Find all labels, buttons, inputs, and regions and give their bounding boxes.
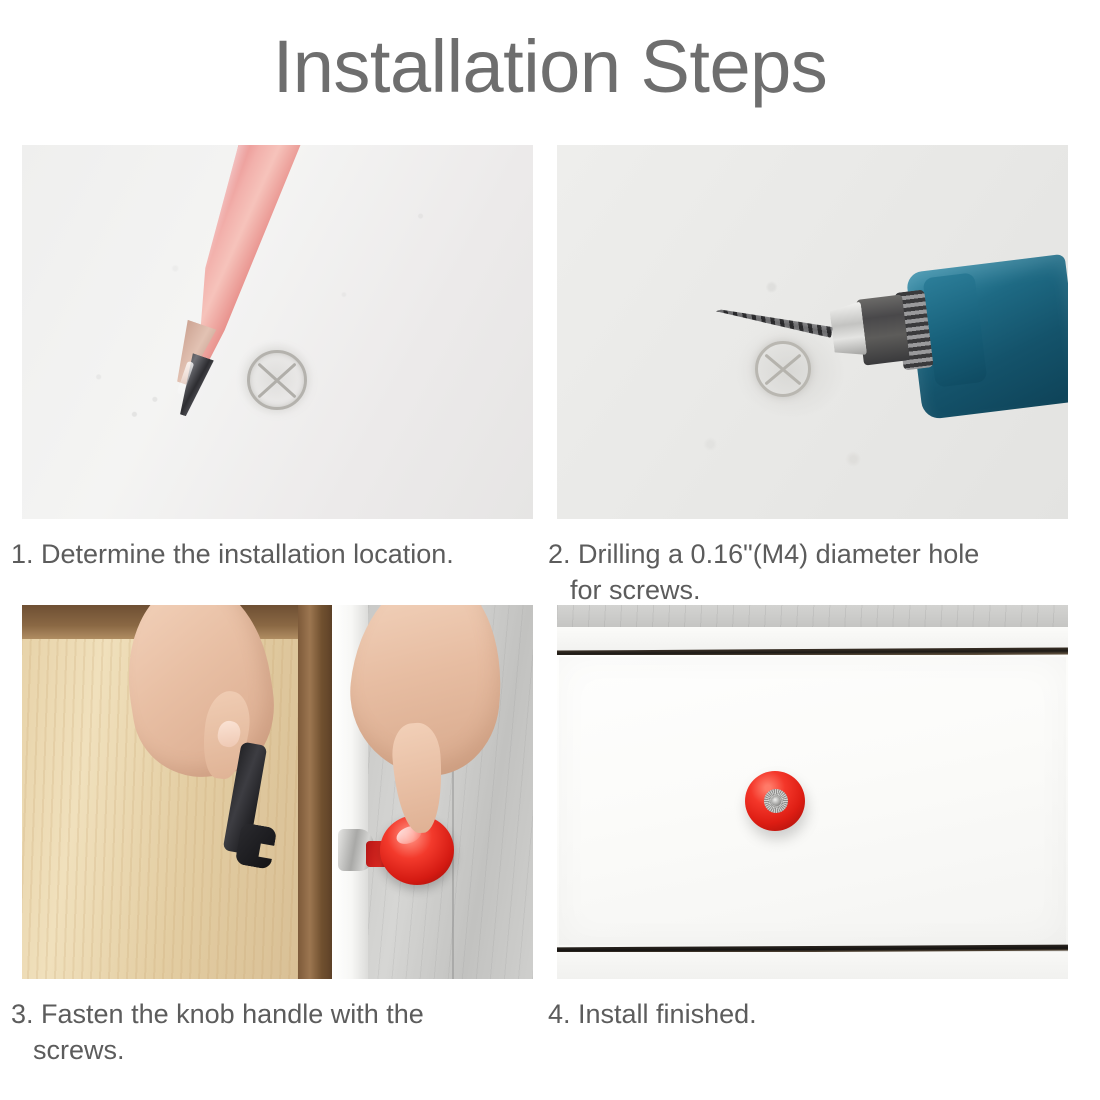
step-1-photo-pencil-marking xyxy=(22,145,533,519)
step-2-caption: 2. Drilling a 0.16"(M4) diameter hole fo… xyxy=(557,537,1068,609)
step-2-photo-drilling xyxy=(557,145,1068,519)
step-card-4: 4. Install finished. xyxy=(557,605,1068,1033)
circled-x-mark-icon xyxy=(247,350,307,410)
background-floor-strip xyxy=(557,605,1068,627)
step-card-3: 3. Fasten the knob handle with the screw… xyxy=(22,605,533,1069)
drill-chuck-barrel xyxy=(856,294,910,365)
cabinet-bottom-rail xyxy=(557,952,1068,979)
page-title: Installation Steps xyxy=(0,28,1100,106)
step-4-caption: 4. Install finished. xyxy=(557,997,1068,1033)
step-1-caption: 1. Determine the installation location. xyxy=(22,537,533,573)
installation-steps-page: Installation Steps 1. Determine the inst… xyxy=(0,0,1100,1100)
white-panel-surface xyxy=(22,145,533,519)
step-card-2: 2. Drilling a 0.16"(M4) diameter hole fo… xyxy=(557,145,1068,609)
steps-grid: 1. Determine the installation location. … xyxy=(22,145,1078,1075)
step-card-1: 1. Determine the installation location. xyxy=(22,145,533,573)
step-3-caption: 3. Fasten the knob handle with the screw… xyxy=(22,997,533,1069)
step-3-photo-fastening xyxy=(22,605,533,979)
circled-x-mark-icon xyxy=(755,341,811,397)
white-drawer-front xyxy=(557,655,1068,947)
drawer-side-edge xyxy=(298,605,332,979)
knob-screw-head xyxy=(772,797,781,806)
step-4-photo-finished xyxy=(557,605,1068,979)
